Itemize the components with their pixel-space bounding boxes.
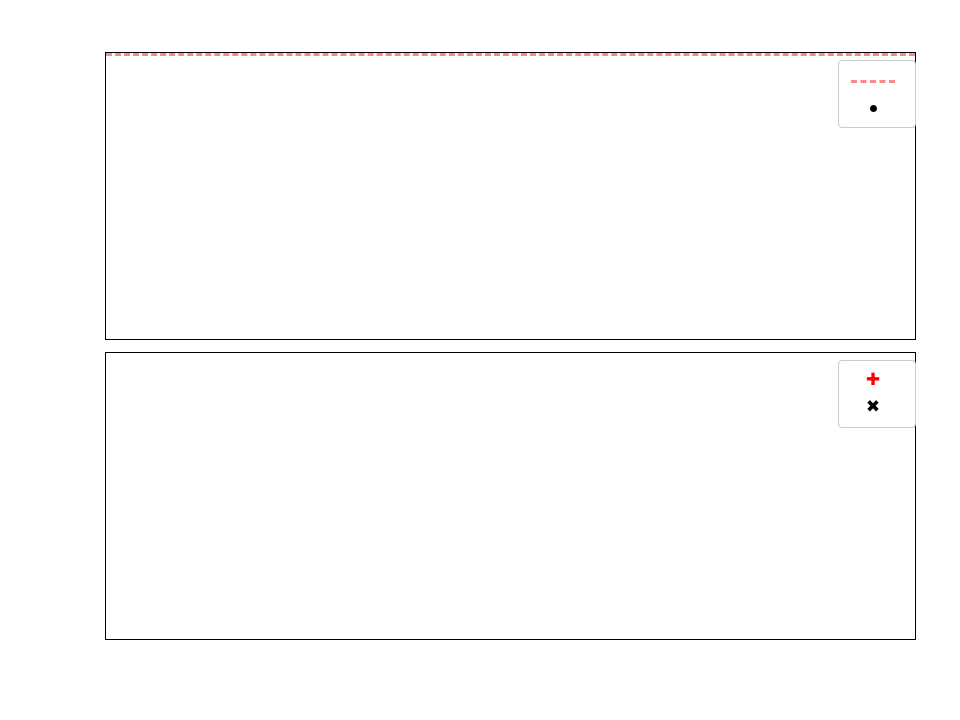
threshold-line [106, 53, 915, 56]
legend-item-threshold[interactable] [847, 67, 905, 94]
panel-matched-predicted-ratio [105, 52, 916, 340]
panel-star-counts [105, 352, 916, 640]
legend-top [838, 60, 916, 128]
legend-item-predicted-stars[interactable]: ✖ [847, 394, 905, 421]
plus-marker-icon: ✚ [847, 372, 899, 389]
legend-item-matched-stars[interactable]: ✚ [847, 367, 905, 394]
threshold-dash-icon [847, 71, 899, 90]
legend-item-measurements[interactable] [847, 94, 905, 121]
measurement-dot-icon [847, 98, 899, 117]
cross-marker-icon: ✖ [847, 399, 899, 416]
figure-root: ✚ ✖ [0, 0, 960, 720]
legend-bottom: ✚ ✖ [838, 360, 916, 428]
